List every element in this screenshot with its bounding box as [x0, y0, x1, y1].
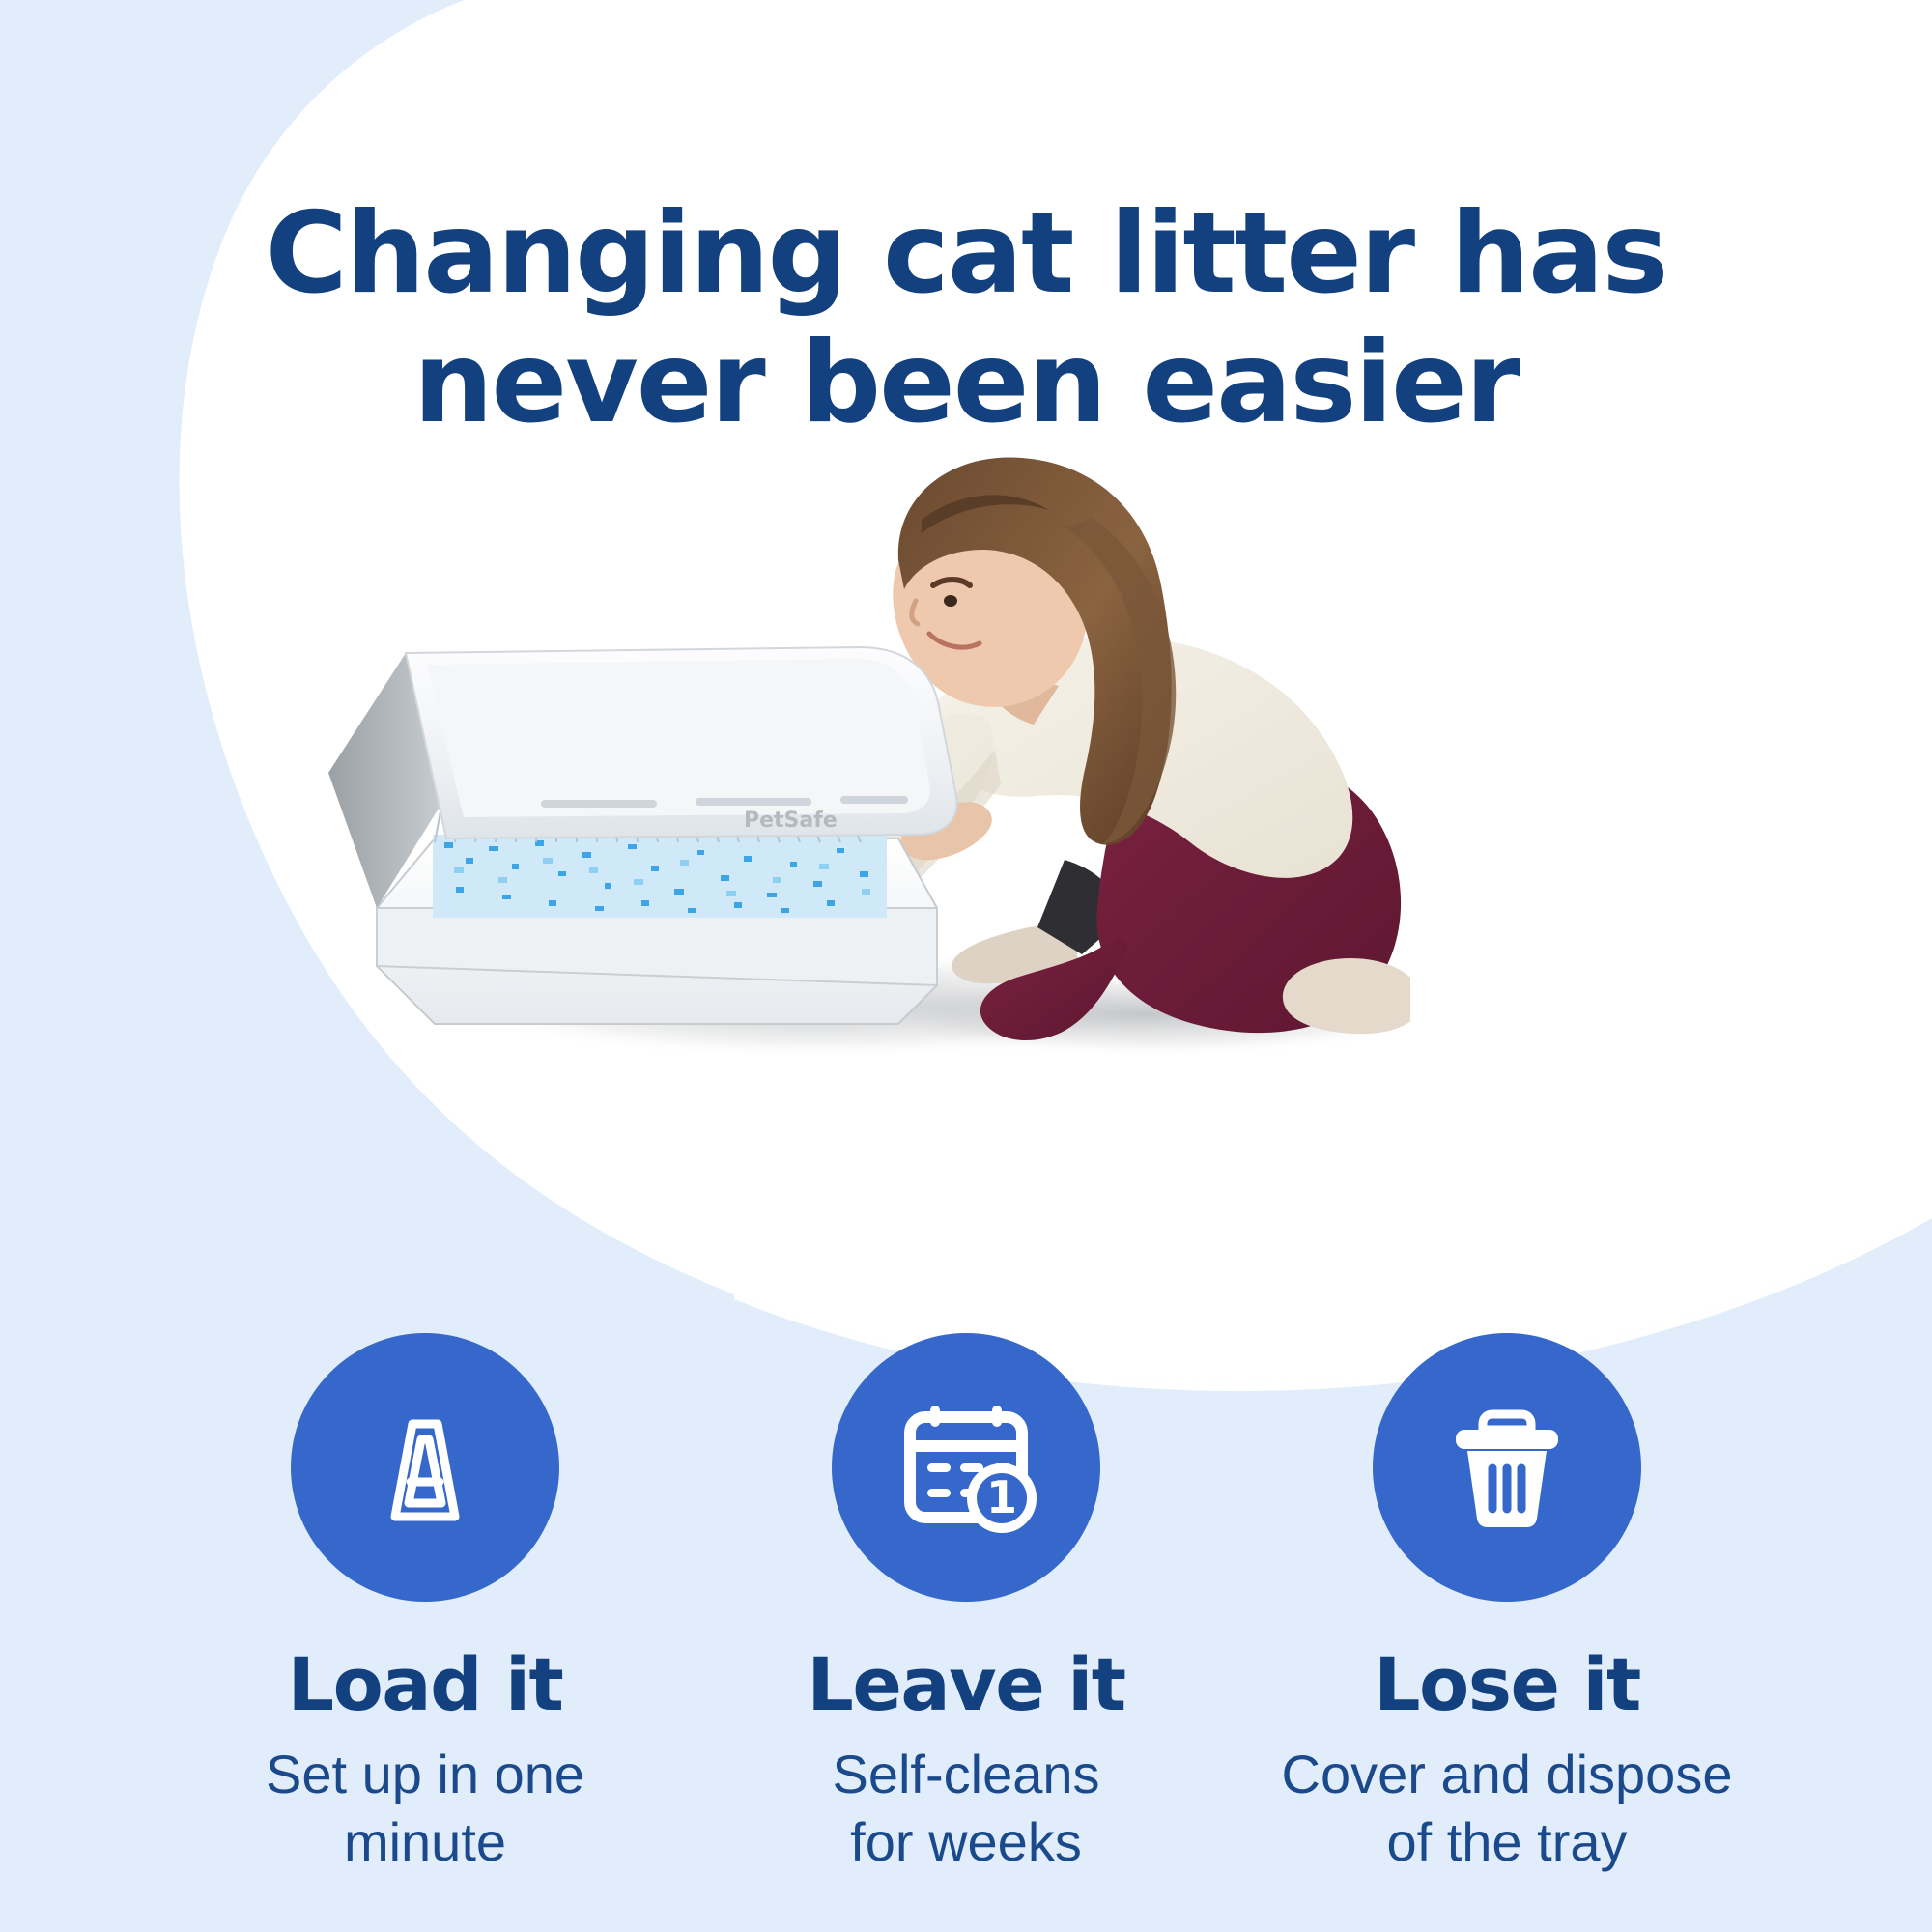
feature-lose-it: Lose it Cover and dispose of the tray — [1236, 1333, 1777, 1877]
feature-title: Lose it — [1374, 1646, 1640, 1723]
feature-leave-it: 1 Leave it Self-cleans for weeks — [696, 1333, 1236, 1877]
feature-title: Leave it — [807, 1646, 1124, 1723]
feature-icon-circle — [1373, 1333, 1641, 1602]
litter-crystals — [433, 835, 887, 918]
calendar-one-icon: 1 — [889, 1390, 1043, 1545]
litter-tray-icon — [353, 1395, 497, 1540]
trash-can-icon — [1435, 1395, 1579, 1540]
feature-description: Cover and dispose of the tray — [1282, 1741, 1733, 1877]
feature-row: Load it Set up in one minute — [0, 1333, 1932, 1877]
petsafe-litter-box: PetSafe — [328, 647, 957, 1024]
calendar-day-badge: 1 — [986, 1471, 1017, 1523]
feature-load-it: Load it Set up in one minute — [155, 1333, 696, 1877]
feature-icon-circle — [291, 1333, 559, 1602]
feature-description: Set up in one minute — [266, 1741, 584, 1877]
infographic-canvas: Changing cat litter has never been easie… — [0, 0, 1932, 1932]
hero-photo: PetSafe — [319, 406, 1410, 1063]
feature-title: Load it — [288, 1646, 563, 1723]
product-brand-logo: PetSafe — [744, 809, 838, 833]
feature-icon-circle: 1 — [832, 1333, 1100, 1602]
feature-description: Self-cleans for weeks — [832, 1741, 1099, 1877]
